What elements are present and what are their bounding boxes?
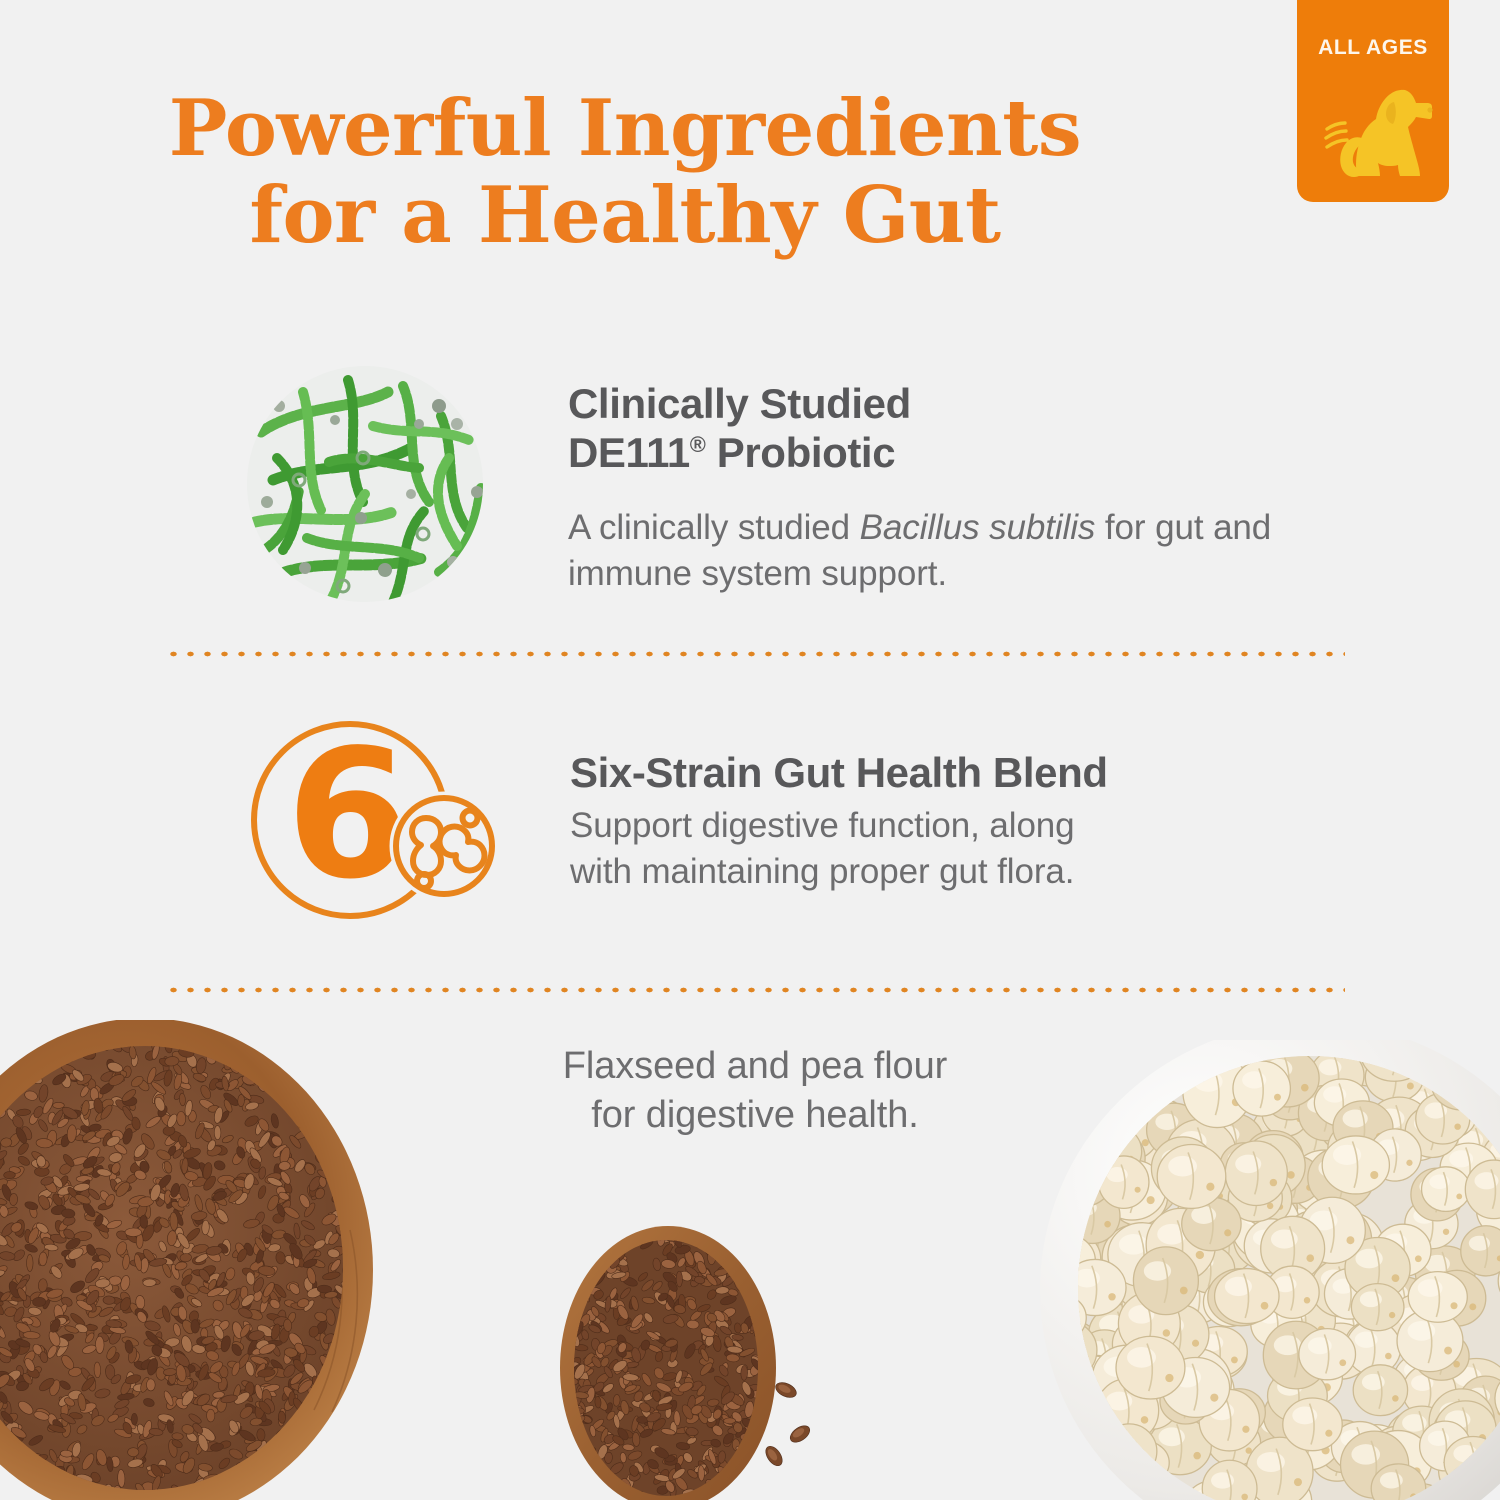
- all-ages-badge: ALL AGES: [1297, 0, 1449, 202]
- registered-trademark-symbol: ®: [690, 432, 706, 457]
- bottom-caption: Flaxseed and pea flour for digestive hea…: [380, 1042, 1130, 1141]
- feature-blend-text: Six-Strain Gut Health Blend Support dige…: [498, 718, 1328, 895]
- feature-probiotic-body: A clinically studied Bacillus subtilis f…: [568, 505, 1323, 597]
- feature-probiotic-heading-line-2: DE111® Probiotic: [568, 428, 1323, 477]
- feature-blend-body-line-1: Support digestive function, along: [570, 803, 1328, 849]
- all-ages-badge-label: ALL AGES: [1318, 36, 1428, 60]
- feature-blend-body: Support digestive function, along with m…: [570, 803, 1328, 895]
- feature-probiotic-body-pre: A clinically studied: [568, 508, 860, 547]
- page-title: Powerful Ingredients for a Healthy Gut: [0, 86, 1250, 259]
- probiotic-word: Probiotic: [705, 429, 895, 476]
- feature-blend-heading: Six-Strain Gut Health Blend: [570, 748, 1328, 797]
- feature-blend-body-line-2: with maintaining proper gut flora.: [570, 849, 1328, 895]
- feature-probiotic-text: Clinically Studied DE111® Probiotic A cl…: [488, 362, 1323, 597]
- page-title-line-2: for a Healthy Gut: [0, 173, 1250, 260]
- feature-clinically-studied-probiotic: Clinically Studied DE111® Probiotic A cl…: [243, 362, 1323, 607]
- sitting-dog-icon: [1312, 66, 1434, 193]
- probiotic-name: DE111: [568, 429, 690, 476]
- dotted-divider-2: [165, 984, 1345, 996]
- feature-six-strain-blend: 6 Six-Strain Gut Health Blend Support di…: [248, 718, 1328, 923]
- six-numeral: 6: [286, 718, 410, 918]
- probiotic-microscope-icon: [243, 362, 488, 607]
- six-strain-bacteria-icon: 6: [248, 718, 498, 923]
- bottom-caption-line-2: for digestive health.: [380, 1091, 1130, 1140]
- bottom-caption-line-1: Flaxseed and pea flour: [380, 1042, 1130, 1091]
- wooden-spoon-of-flaxseed: [548, 1220, 878, 1500]
- bacillus-subtilis-name: Bacillus subtilis: [860, 508, 1096, 547]
- wooden-bowl-of-flaxseed: [0, 1020, 390, 1500]
- feature-probiotic-heading-line-1: Clinically Studied: [568, 379, 1323, 428]
- dotted-divider-1: [165, 648, 1345, 660]
- infographic-page: ALL AGES Powerful Ingredients: [0, 0, 1500, 1500]
- page-title-line-1: Powerful Ingredients: [0, 86, 1250, 173]
- feature-probiotic-heading: Clinically Studied DE111® Probiotic: [568, 379, 1323, 477]
